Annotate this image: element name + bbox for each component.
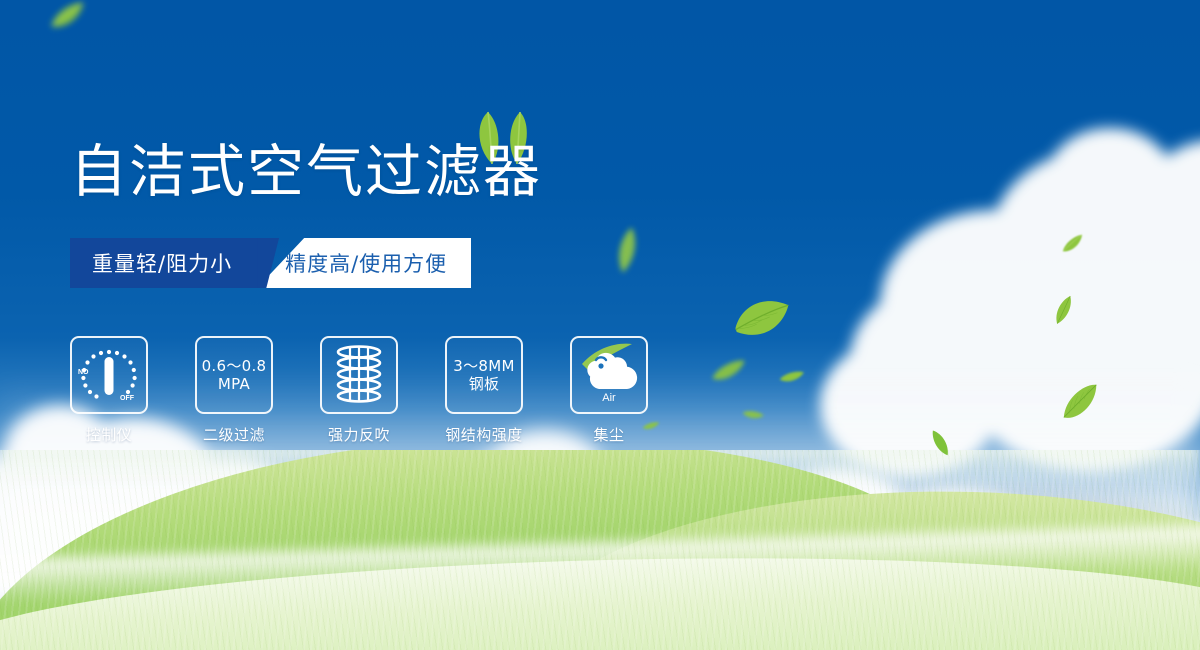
feature-item-controller[interactable]: NO OFF 控制仪 [70, 336, 148, 445]
steel-thickness: 3～8MM [453, 357, 514, 375]
tagline-left: 重量轻/阻力小 [70, 238, 258, 288]
grass-texture [0, 450, 1200, 650]
grass-field [0, 450, 1200, 650]
feature-label: 钢结构强度 [445, 424, 523, 445]
feature-label: 控制仪 [86, 424, 133, 445]
tagline-badge: 重量轻/阻力小 精度高/使用方便 [70, 238, 471, 288]
feature-item-steel[interactable]: 3～8MM 钢板 钢结构强度 [445, 336, 523, 445]
feature-label: 二级过滤 [203, 424, 265, 445]
feature-item-dust[interactable]: Air 集尘 [570, 336, 648, 445]
gauge-off-label: OFF [120, 395, 135, 402]
control-gauge-icon: NO OFF [70, 336, 148, 414]
steel-material: 钢板 [453, 375, 514, 393]
feature-item-filtration[interactable]: 0.6～0.8 MPA 二级过滤 [195, 336, 273, 445]
pressure-value: 0.6～0.8 [202, 357, 267, 375]
hero-banner: 自洁式空气过滤器 重量轻/阻力小 精度高/使用方便 [0, 0, 1200, 650]
feature-label: 强力反吹 [328, 424, 390, 445]
tagline-right: 精度高/使用方便 [257, 238, 471, 288]
feature-item-backflush[interactable]: 强力反吹 [320, 336, 398, 445]
gauge-on-label: NO [78, 369, 89, 376]
feature-list: NO OFF 控制仪 0.6～0.8 MPA 二级过滤 [70, 336, 648, 445]
coil-spring-icon [320, 336, 398, 414]
page-title: 自洁式空气过滤器 [70, 143, 542, 203]
feature-label: 集尘 [593, 424, 624, 445]
steel-text-icon: 3～8MM 钢板 [445, 336, 523, 414]
pressure-text-icon: 0.6～0.8 MPA [195, 336, 273, 414]
cloud-air-icon: Air [570, 336, 648, 414]
pressure-unit: MPA [202, 375, 267, 393]
air-label: Air [602, 392, 616, 404]
